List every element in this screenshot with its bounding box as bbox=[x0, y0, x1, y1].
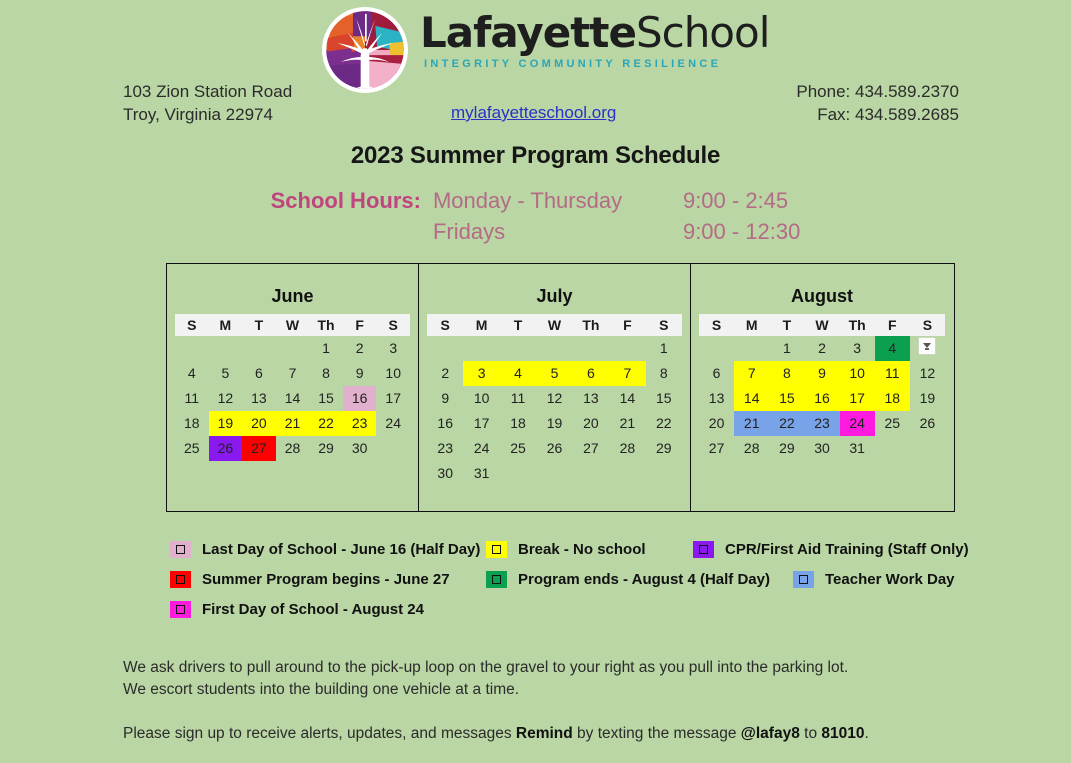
weekday-label: F bbox=[875, 317, 910, 333]
day-cell[interactable]: 14 bbox=[734, 386, 769, 411]
day-cell[interactable]: 7 bbox=[734, 361, 769, 386]
day-cell[interactable]: 22 bbox=[309, 411, 343, 436]
day-cell[interactable]: 3 bbox=[463, 361, 499, 386]
pickup-note-line-2: We escort students into the building one… bbox=[123, 679, 993, 701]
school-hours-label: School Hours: bbox=[271, 186, 433, 215]
legend-row: Summer Program begins - June 27Program e… bbox=[170, 571, 1000, 588]
day-cell[interactable]: 25 bbox=[175, 436, 209, 461]
legend-swatch-pink bbox=[170, 541, 191, 558]
weekday-label: Th bbox=[840, 317, 875, 333]
day-cell[interactable] bbox=[910, 336, 945, 361]
day-cell-empty bbox=[209, 336, 243, 361]
day-cell[interactable]: 13 bbox=[699, 386, 734, 411]
day-cell[interactable]: 29 bbox=[646, 436, 682, 461]
legend-item: Summer Program begins - June 27 bbox=[170, 571, 486, 588]
day-cell-empty bbox=[463, 336, 499, 361]
day-cell[interactable]: 4 bbox=[175, 361, 209, 386]
day-cell[interactable]: 5 bbox=[536, 361, 572, 386]
day-cell[interactable]: 4 bbox=[875, 336, 910, 361]
weekday-header-row: SMTWThFS bbox=[699, 314, 945, 336]
month-title: August bbox=[691, 286, 953, 307]
month-title: July bbox=[419, 286, 690, 307]
legend-row: First Day of School - August 24 bbox=[170, 601, 1000, 618]
weekday-label: T bbox=[769, 317, 804, 333]
day-cell[interactable]: 2 bbox=[343, 336, 377, 361]
day-cell[interactable]: 11 bbox=[875, 361, 910, 386]
weekday-label: F bbox=[609, 317, 645, 333]
day-cell[interactable]: 25 bbox=[500, 436, 536, 461]
remind-shortcode: 81010 bbox=[821, 725, 864, 742]
day-cell-empty bbox=[734, 336, 769, 361]
day-cell-empty bbox=[609, 336, 645, 361]
calendar-month-august: AugustSMTWThFS12346789101112131415161718… bbox=[691, 264, 953, 511]
legend-label: Break - No school bbox=[518, 541, 646, 558]
legend-item: Program ends - August 4 (Half Day) bbox=[486, 571, 793, 588]
calendar-legend: Last Day of School - June 16 (Half Day)B… bbox=[170, 541, 1000, 631]
day-cell[interactable]: 12 bbox=[209, 386, 243, 411]
day-cell-empty bbox=[910, 436, 945, 461]
day-cell[interactable]: 6 bbox=[573, 361, 609, 386]
day-cell[interactable]: 21 bbox=[276, 411, 310, 436]
chevron-down-icon[interactable] bbox=[919, 338, 935, 354]
weekday-label: M bbox=[463, 317, 499, 333]
legend-label: Summer Program begins - June 27 bbox=[202, 571, 450, 588]
day-cell[interactable]: 30 bbox=[804, 436, 839, 461]
weekday-label: S bbox=[699, 317, 734, 333]
day-cell[interactable]: 4 bbox=[500, 361, 536, 386]
month-title: June bbox=[167, 286, 418, 307]
day-cell[interactable]: 23 bbox=[427, 436, 463, 461]
weekday-label: S bbox=[646, 317, 682, 333]
day-cell-empty bbox=[427, 336, 463, 361]
day-cell[interactable]: 24 bbox=[463, 436, 499, 461]
brand-text: LafayetteSchool INTEGRITY COMMUNITY RESI… bbox=[420, 4, 769, 70]
remind-brand: Remind bbox=[516, 725, 573, 742]
day-cell[interactable]: 17 bbox=[840, 386, 875, 411]
day-cell-empty bbox=[376, 436, 410, 461]
legend-label: Teacher Work Day bbox=[825, 571, 955, 588]
day-cell[interactable]: 21 bbox=[609, 411, 645, 436]
day-cell[interactable]: 25 bbox=[875, 411, 910, 436]
day-cell[interactable]: 15 bbox=[309, 386, 343, 411]
days-grid: 1234567891011121314151617181920212223242… bbox=[175, 336, 410, 461]
weekday-label: M bbox=[734, 317, 769, 333]
school-tree-logo-icon bbox=[322, 7, 408, 93]
brand-name-light: School bbox=[636, 8, 769, 57]
day-cell[interactable]: 22 bbox=[646, 411, 682, 436]
day-cell[interactable]: 26 bbox=[910, 411, 945, 436]
weekday-label: W bbox=[536, 317, 572, 333]
day-cell[interactable]: 7 bbox=[276, 361, 310, 386]
day-cell-empty bbox=[875, 436, 910, 461]
day-cell[interactable]: 24 bbox=[840, 411, 875, 436]
day-cell[interactable]: 2 bbox=[804, 336, 839, 361]
day-cell[interactable]: 8 bbox=[646, 361, 682, 386]
day-cell[interactable]: 17 bbox=[463, 411, 499, 436]
day-cell[interactable]: 28 bbox=[734, 436, 769, 461]
day-cell[interactable]: 11 bbox=[175, 386, 209, 411]
day-cell[interactable]: 14 bbox=[276, 386, 310, 411]
day-cell[interactable]: 10 bbox=[463, 386, 499, 411]
day-cell[interactable]: 17 bbox=[376, 386, 410, 411]
day-cell-empty bbox=[500, 461, 536, 486]
day-cell[interactable]: 16 bbox=[427, 411, 463, 436]
day-cell[interactable]: 30 bbox=[343, 436, 377, 461]
hours-time-weekday: 9:00 - 2:45 bbox=[683, 186, 800, 215]
calendar-month-june: JuneSMTWThFS1234567891011121314151617181… bbox=[167, 264, 419, 511]
day-cell[interactable]: 13 bbox=[242, 386, 276, 411]
remind-pre: Please sign up to receive alerts, update… bbox=[123, 725, 516, 742]
weekday-label: Th bbox=[573, 317, 609, 333]
day-cell[interactable]: 9 bbox=[804, 361, 839, 386]
website-link[interactable]: mylafayetteschool.org bbox=[451, 103, 616, 123]
legend-label: First Day of School - August 24 bbox=[202, 601, 424, 618]
day-cell[interactable]: 30 bbox=[427, 461, 463, 486]
day-cell[interactable]: 12 bbox=[910, 361, 945, 386]
remind-to: to bbox=[800, 725, 822, 742]
weekday-label: S bbox=[910, 317, 945, 333]
weekday-header-row: SMTWThFS bbox=[175, 314, 410, 336]
legend-item: Break - No school bbox=[486, 541, 693, 558]
day-cell[interactable]: 15 bbox=[646, 386, 682, 411]
day-cell[interactable]: 27 bbox=[573, 436, 609, 461]
day-cell[interactable]: 20 bbox=[699, 411, 734, 436]
brand-lockup: LafayetteSchool INTEGRITY COMMUNITY RESI… bbox=[322, 4, 769, 93]
day-cell[interactable]: 18 bbox=[875, 386, 910, 411]
day-cell[interactable]: 3 bbox=[376, 336, 410, 361]
pickup-note-line-1: We ask drivers to pull around to the pic… bbox=[123, 657, 993, 679]
contact-info: Phone: 434.589.2370 Fax: 434.589.2685 bbox=[796, 80, 959, 126]
brand-name: LafayetteSchool bbox=[420, 10, 769, 56]
day-cell[interactable]: 20 bbox=[573, 411, 609, 436]
day-cell[interactable]: 15 bbox=[769, 386, 804, 411]
day-cell-empty bbox=[276, 336, 310, 361]
day-cell[interactable]: 24 bbox=[376, 411, 410, 436]
day-cell[interactable]: 20 bbox=[242, 411, 276, 436]
legend-label: CPR/First Aid Training (Staff Only) bbox=[725, 541, 969, 558]
brand-name-bold: Lafayette bbox=[420, 8, 636, 57]
footer-notes: We ask drivers to pull around to the pic… bbox=[123, 657, 993, 745]
day-cell[interactable]: 16 bbox=[804, 386, 839, 411]
fax-number: Fax: 434.589.2685 bbox=[796, 103, 959, 126]
phone-number: Phone: 434.589.2370 bbox=[796, 80, 959, 103]
day-cell[interactable]: 16 bbox=[343, 386, 377, 411]
day-cell[interactable]: 8 bbox=[309, 361, 343, 386]
page-header: 103 Zion Station Road Troy, Virginia 229… bbox=[0, 0, 1071, 132]
legend-swatch-red bbox=[170, 571, 191, 588]
day-cell[interactable]: 29 bbox=[309, 436, 343, 461]
legend-swatch-green bbox=[486, 571, 507, 588]
day-cell[interactable]: 12 bbox=[536, 386, 572, 411]
day-cell-empty bbox=[646, 461, 682, 486]
day-cell[interactable]: 5 bbox=[209, 361, 243, 386]
weekday-label: M bbox=[209, 317, 243, 333]
weekday-label: S bbox=[175, 317, 209, 333]
legend-swatch-magenta bbox=[170, 601, 191, 618]
day-cell[interactable]: 27 bbox=[699, 436, 734, 461]
remind-handle: @lafay8 bbox=[741, 725, 800, 742]
day-cell[interactable]: 1 bbox=[769, 336, 804, 361]
legend-swatch-yellow bbox=[486, 541, 507, 558]
legend-label: Program ends - August 4 (Half Day) bbox=[518, 571, 770, 588]
day-cell[interactable]: 6 bbox=[242, 361, 276, 386]
day-cell[interactable]: 18 bbox=[500, 411, 536, 436]
legend-item: Teacher Work Day bbox=[793, 571, 993, 588]
day-cell-empty bbox=[609, 461, 645, 486]
weekday-label: W bbox=[804, 317, 839, 333]
day-cell[interactable]: 9 bbox=[427, 386, 463, 411]
day-cell[interactable]: 6 bbox=[699, 361, 734, 386]
day-cell-empty bbox=[573, 461, 609, 486]
day-cell[interactable]: 27 bbox=[242, 436, 276, 461]
day-cell[interactable]: 23 bbox=[804, 411, 839, 436]
day-cell[interactable]: 28 bbox=[609, 436, 645, 461]
day-cell-empty bbox=[573, 336, 609, 361]
day-cell[interactable]: 1 bbox=[646, 336, 682, 361]
day-cell[interactable]: 29 bbox=[769, 436, 804, 461]
address-line-2: Troy, Virginia 22974 bbox=[123, 103, 292, 126]
remind-mid: by texting the message bbox=[573, 725, 741, 742]
brand-tagline: INTEGRITY COMMUNITY RESILIENCE bbox=[424, 58, 769, 70]
legend-swatch-purple bbox=[693, 541, 714, 558]
day-cell[interactable]: 1 bbox=[309, 336, 343, 361]
day-cell[interactable]: 26 bbox=[209, 436, 243, 461]
day-cell-empty bbox=[175, 336, 209, 361]
weekday-label: S bbox=[427, 317, 463, 333]
weekday-label: F bbox=[343, 317, 377, 333]
page-title: 2023 Summer Program Schedule bbox=[0, 142, 1071, 170]
weekday-label: T bbox=[500, 317, 536, 333]
day-cell[interactable]: 31 bbox=[463, 461, 499, 486]
weekday-label: S bbox=[376, 317, 410, 333]
remind-end: . bbox=[865, 725, 869, 742]
day-cell[interactable]: 9 bbox=[343, 361, 377, 386]
day-cell[interactable]: 10 bbox=[840, 361, 875, 386]
day-cell-empty bbox=[536, 461, 572, 486]
day-cell[interactable]: 31 bbox=[840, 436, 875, 461]
legend-item: First Day of School - August 24 bbox=[170, 601, 486, 618]
weekday-header-row: SMTWThFS bbox=[427, 314, 682, 336]
day-cell-empty bbox=[699, 336, 734, 361]
hours-days-friday: Fridays bbox=[433, 217, 683, 246]
days-grid: 1234567891011121314151617181920212223242… bbox=[427, 336, 682, 486]
calendar-container: JuneSMTWThFS1234567891011121314151617181… bbox=[166, 263, 955, 512]
day-cell[interactable]: 21 bbox=[734, 411, 769, 436]
day-cell[interactable]: 11 bbox=[500, 386, 536, 411]
day-cell[interactable]: 19 bbox=[209, 411, 243, 436]
day-cell-empty bbox=[242, 336, 276, 361]
day-cell-empty bbox=[536, 336, 572, 361]
remind-signup-note: Please sign up to receive alerts, update… bbox=[123, 723, 993, 745]
school-address: 103 Zion Station Road Troy, Virginia 229… bbox=[123, 80, 292, 126]
address-line-1: 103 Zion Station Road bbox=[123, 80, 292, 103]
day-cell[interactable]: 22 bbox=[769, 411, 804, 436]
legend-label: Last Day of School - June 16 (Half Day) bbox=[202, 541, 480, 558]
legend-item: Last Day of School - June 16 (Half Day) bbox=[170, 541, 486, 558]
day-cell[interactable]: 19 bbox=[910, 386, 945, 411]
day-cell[interactable]: 7 bbox=[609, 361, 645, 386]
day-cell[interactable]: 19 bbox=[536, 411, 572, 436]
legend-swatch-blue bbox=[793, 571, 814, 588]
day-cell[interactable]: 13 bbox=[573, 386, 609, 411]
day-cell[interactable]: 26 bbox=[536, 436, 572, 461]
school-hours-block: School Hours: Monday - Thursday 9:00 - 2… bbox=[0, 186, 1071, 246]
legend-row: Last Day of School - June 16 (Half Day)B… bbox=[170, 541, 1000, 558]
hours-days-weekday: Monday - Thursday bbox=[433, 186, 683, 215]
hours-time-friday: 9:00 - 12:30 bbox=[683, 217, 800, 246]
day-cell[interactable]: 8 bbox=[769, 361, 804, 386]
legend-item: CPR/First Aid Training (Staff Only) bbox=[693, 541, 993, 558]
day-cell[interactable]: 10 bbox=[376, 361, 410, 386]
school-hours-label-spacer bbox=[271, 217, 433, 246]
days-grid: 1234678910111213141516171819202122232425… bbox=[699, 336, 945, 461]
day-cell[interactable]: 18 bbox=[175, 411, 209, 436]
weekday-label: T bbox=[242, 317, 276, 333]
day-cell[interactable]: 28 bbox=[276, 436, 310, 461]
weekday-label: W bbox=[276, 317, 310, 333]
day-cell[interactable]: 3 bbox=[840, 336, 875, 361]
weekday-label: Th bbox=[309, 317, 343, 333]
day-cell[interactable]: 23 bbox=[343, 411, 377, 436]
day-cell[interactable]: 2 bbox=[427, 361, 463, 386]
day-cell-empty bbox=[500, 336, 536, 361]
day-cell[interactable]: 14 bbox=[609, 386, 645, 411]
calendar-month-july: JulySMTWThFS1234567891011121314151617181… bbox=[419, 264, 691, 511]
